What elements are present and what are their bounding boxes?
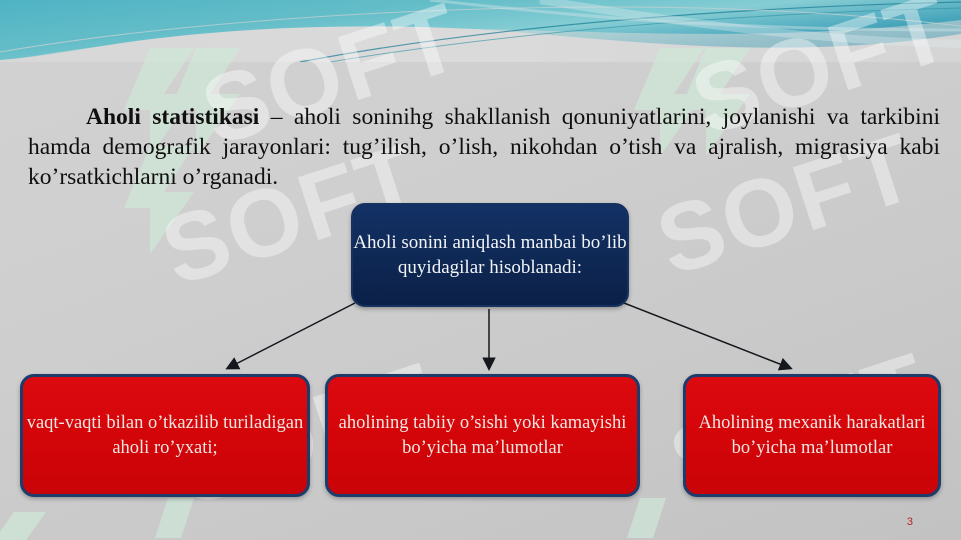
diagram-child-node-2[interactable]: aholining tabiiy o’sishi yoki kamayishi … [325, 374, 640, 497]
diagram-child-node-1[interactable]: vaqt-vaqti bilan o’tkazilib turiladigan … [20, 374, 310, 497]
top-banner-decoration [0, 0, 961, 62]
paragraph-lead-term: Aholi statistikasi [86, 104, 259, 130]
slide: SOFT SOFT SOFT SOFT SOFT SOFT Aholi stat… [0, 0, 961, 540]
diagram-child-node-1-label: vaqt-vaqti bilan o’tkazilib turiladigan … [23, 411, 307, 461]
diagram-child-node-3[interactable]: Aholining mexanik harakatlari bo’yicha m… [683, 374, 941, 497]
arrow-root-to-right [624, 303, 790, 368]
diagram-root-node-label: Aholi sonini aniqlash manbai bo’lib quyi… [353, 230, 627, 280]
diagram-child-node-3-label: Aholining mexanik harakatlari bo’yicha m… [686, 411, 938, 461]
body-paragraph: Aholi statistikasi – aholi soninihg shak… [28, 102, 940, 192]
arrow-root-to-left [228, 303, 355, 368]
diagram-root-node[interactable]: Aholi sonini aniqlash manbai bo’lib quyi… [351, 203, 629, 307]
diagram-child-node-2-label: aholining tabiiy o’sishi yoki kamayishi … [328, 411, 637, 461]
page-number: 3 [907, 516, 913, 528]
